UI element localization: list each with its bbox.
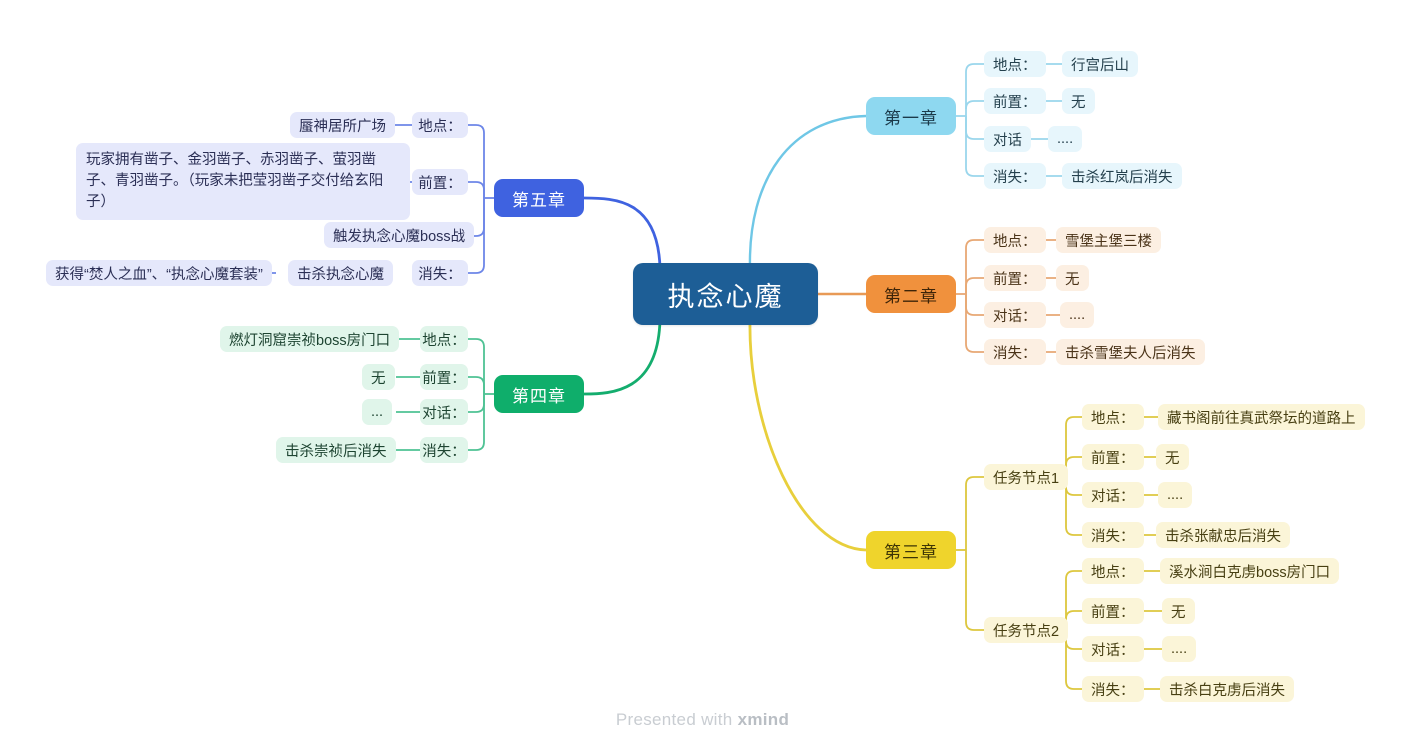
value-text: .... (1069, 307, 1085, 323)
chapter3-task1-row2-value[interactable]: .... (1158, 482, 1192, 508)
value-text: 行宫后山 (1071, 54, 1129, 75)
label-text: 地点： (1091, 407, 1135, 428)
value-text: 无 (1165, 447, 1180, 468)
value-text: 获得“焚人之血”、“执念心魔套装” (55, 263, 263, 284)
chapter5-row1-key[interactable]: 前置： (412, 169, 468, 195)
chapter1-row1-key[interactable]: 前置： (984, 88, 1046, 114)
link-center-chapter5 (584, 198, 660, 268)
chapter3-task1-row3-value[interactable]: 击杀张献忠后消失 (1156, 522, 1290, 548)
value-text: 击杀红岚后消失 (1071, 166, 1173, 187)
label-text: 前置： (993, 268, 1037, 289)
branch-chapter5-label: 第五章 (512, 186, 566, 211)
footer-brand: xmind (738, 710, 790, 729)
chapter4-row3-value[interactable]: 击杀崇祯后消失 (276, 437, 396, 463)
chapter3-task2-row3-key[interactable]: 消失： (1082, 676, 1144, 702)
label-text: 对话： (1091, 485, 1135, 506)
chapter3-task2-row0-key[interactable]: 地点： (1082, 558, 1144, 584)
link-center-chapter3 (750, 320, 866, 550)
branch-chapter3-label: 第三章 (884, 538, 938, 563)
mindmap-canvas: 执念心魔 第一章 地点： 行宫后山 前置： 无 对话 .... 消失： 击杀红岚… (0, 0, 1405, 752)
chapter3-task2-row3-value[interactable]: 击杀白克虏后消失 (1160, 676, 1294, 702)
label-text: 对话： (422, 402, 466, 423)
label-text: 消失： (993, 342, 1037, 363)
label-text: 地点： (993, 230, 1037, 251)
chapter5-row2-key[interactable]: 触发执念心魔boss战 (324, 222, 474, 248)
value-text: 击杀张献忠后消失 (1165, 525, 1281, 546)
chapter4-row2-key[interactable]: 对话： (420, 399, 468, 425)
label-text: 前置： (993, 91, 1037, 112)
chapter4-row3-key[interactable]: 消失： (420, 437, 468, 463)
branch-chapter1[interactable]: 第一章 (866, 97, 956, 135)
chapter3-task2[interactable]: 任务节点2 (984, 617, 1068, 643)
label-text: 地点： (418, 115, 462, 136)
value-text: 击杀崇祯后消失 (285, 440, 387, 461)
chapter4-row1-value[interactable]: 无 (362, 364, 395, 390)
link-center-chapter4 (584, 320, 660, 394)
value-text: 藏书阁前往真武祭坛的道路上 (1167, 407, 1356, 428)
value-text: 雪堡主堡三楼 (1065, 230, 1152, 251)
chapter5-row0-key[interactable]: 地点： (412, 112, 468, 138)
branch-chapter2[interactable]: 第二章 (866, 275, 956, 313)
chapter1-row0-value[interactable]: 行宫后山 (1062, 51, 1138, 77)
chapter5-row0-value[interactable]: 蜃神居所广场 (290, 112, 395, 138)
chapter4-row2-value[interactable]: ... (362, 399, 392, 425)
footer-attribution: Presented with xmind (0, 710, 1405, 730)
label-text: 消失： (993, 166, 1037, 187)
chapter3-task1-row1-value[interactable]: 无 (1156, 444, 1189, 470)
branch-chapter4[interactable]: 第四章 (494, 375, 584, 413)
chapter2-row2-value[interactable]: .... (1060, 302, 1094, 328)
chapter3-task1-row3-key[interactable]: 消失： (1082, 522, 1144, 548)
value-text: .... (1057, 131, 1073, 147)
value-text: .... (1167, 487, 1183, 503)
label-text: 任务节点1 (993, 467, 1059, 488)
chapter3-task2-row1-value[interactable]: 无 (1162, 598, 1195, 624)
chapter4-row1-key[interactable]: 前置： (420, 364, 468, 390)
branch-chapter1-label: 第一章 (884, 104, 938, 129)
chapter1-row0-key[interactable]: 地点： (984, 51, 1046, 77)
label-text: 地点： (422, 329, 466, 350)
footer-prefix: Presented with (616, 710, 738, 729)
value-text: 玩家拥有凿子、金羽凿子、赤羽凿子、萤羽凿子、青羽凿子。（玩家未把莹羽凿子交付给玄… (86, 152, 383, 210)
label-text: 对话： (993, 305, 1037, 326)
value-text: 蜃神居所广场 (299, 115, 386, 136)
chapter3-task2-row0-value[interactable]: 溪水涧白克虏boss房门口 (1160, 558, 1339, 584)
branch-chapter3[interactable]: 第三章 (866, 531, 956, 569)
chapter1-row2-value[interactable]: .... (1048, 126, 1082, 152)
chapter2-row0-key[interactable]: 地点： (984, 227, 1046, 253)
chapter3-task2-row1-key[interactable]: 前置： (1082, 598, 1144, 624)
value-text: 击杀执念心魔 (297, 263, 384, 284)
value-text: 无 (1171, 601, 1186, 622)
chapter1-row1-value[interactable]: 无 (1062, 88, 1095, 114)
value-text: .... (1171, 641, 1187, 657)
value-text: 无 (1065, 268, 1080, 289)
chapter3-task1[interactable]: 任务节点1 (984, 464, 1068, 490)
value-text: 击杀雪堡夫人后消失 (1065, 342, 1196, 363)
label-text: 前置： (418, 172, 462, 193)
branch-chapter5[interactable]: 第五章 (494, 179, 584, 217)
chapter2-row2-key[interactable]: 对话： (984, 302, 1046, 328)
value-text: ... (371, 404, 383, 420)
label-text: 消失： (418, 263, 462, 284)
label-text: 地点： (993, 54, 1037, 75)
chapter1-row2-key[interactable]: 对话 (984, 126, 1031, 152)
chapter2-row0-value[interactable]: 雪堡主堡三楼 (1056, 227, 1161, 253)
chapter2-row1-value[interactable]: 无 (1056, 265, 1089, 291)
central-topic-label: 执念心魔 (668, 275, 784, 314)
label-text: 前置： (1091, 447, 1135, 468)
branch-chapter4-label: 第四章 (512, 382, 566, 407)
chapter4-row0-key[interactable]: 地点： (420, 326, 468, 352)
label-text: 对话： (1091, 639, 1135, 660)
chapter5-row3-value[interactable]: 击杀执念心魔 (288, 260, 393, 286)
value-text: 无 (1071, 91, 1086, 112)
chapter3-task2-row2-value[interactable]: .... (1162, 636, 1196, 662)
chapter2-row3-key[interactable]: 消失： (984, 339, 1046, 365)
value-text: 溪水涧白克虏boss房门口 (1169, 561, 1330, 582)
value-text: 击杀白克虏后消失 (1169, 679, 1285, 700)
label-text: 任务节点2 (993, 620, 1059, 641)
label-text: 触发执念心魔boss战 (333, 225, 465, 246)
chapter5-row3-extra[interactable]: 获得“焚人之血”、“执念心魔套装” (46, 260, 272, 286)
label-text: 消失： (422, 440, 466, 461)
central-topic[interactable]: 执念心魔 (633, 263, 818, 325)
chapter3-task1-row0-key[interactable]: 地点： (1082, 404, 1144, 430)
chapter1-row3-key[interactable]: 消失： (984, 163, 1046, 189)
chapter5-row1-value[interactable]: 玩家拥有凿子、金羽凿子、赤羽凿子、萤羽凿子、青羽凿子。（玩家未把莹羽凿子交付给玄… (76, 143, 410, 220)
label-text: 消失： (1091, 525, 1135, 546)
label-text: 前置： (1091, 601, 1135, 622)
label-text: 前置： (422, 367, 466, 388)
chapter3-task1-row1-key[interactable]: 前置： (1082, 444, 1144, 470)
value-text: 无 (371, 367, 386, 388)
chapter5-row3-key[interactable]: 消失： (412, 260, 468, 286)
branch-chapter2-label: 第二章 (884, 282, 938, 307)
chapter3-task2-row2-key[interactable]: 对话： (1082, 636, 1144, 662)
link-center-chapter1 (750, 116, 866, 268)
chapter3-task1-row0-value[interactable]: 藏书阁前往真武祭坛的道路上 (1158, 404, 1365, 430)
chapter1-row3-value[interactable]: 击杀红岚后消失 (1062, 163, 1182, 189)
label-text: 消失： (1091, 679, 1135, 700)
label-text: 对话 (993, 129, 1022, 150)
label-text: 地点： (1091, 561, 1135, 582)
chapter3-task1-row2-key[interactable]: 对话： (1082, 482, 1144, 508)
chapter2-row3-value[interactable]: 击杀雪堡夫人后消失 (1056, 339, 1205, 365)
chapter2-row1-key[interactable]: 前置： (984, 265, 1046, 291)
chapter4-row0-value[interactable]: 燃灯洞窟崇祯boss房门口 (220, 326, 399, 352)
value-text: 燃灯洞窟崇祯boss房门口 (229, 329, 390, 350)
